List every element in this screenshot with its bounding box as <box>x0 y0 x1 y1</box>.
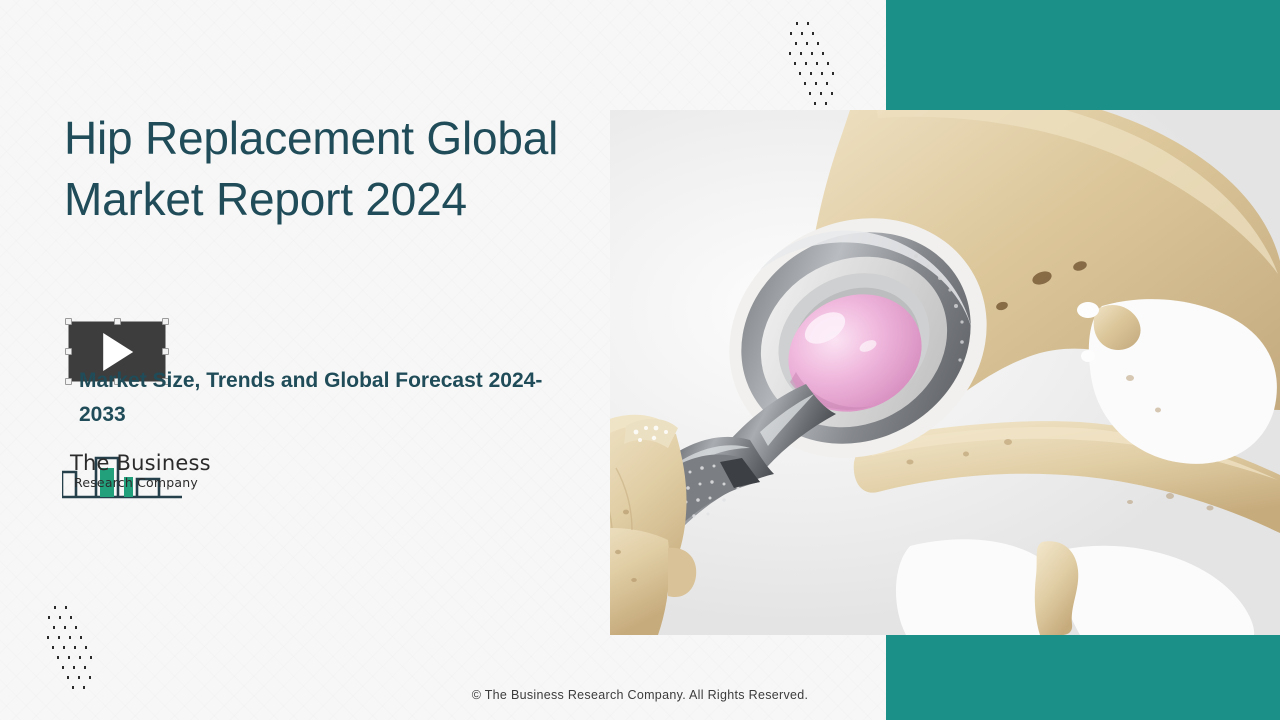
hip-replacement-illustration <box>610 110 1280 635</box>
selection-handle-middle-right[interactable] <box>162 348 169 355</box>
company-logo: The Business Research Company <box>62 446 282 512</box>
dot-pattern-top-right <box>786 18 856 112</box>
selection-handle-bottom-left[interactable] <box>65 378 72 385</box>
selection-handle-top-right[interactable] <box>162 318 169 325</box>
presentation-slide: Hip Replacement Global Market Report 202… <box>0 0 1280 720</box>
logo-text-primary: The Business <box>70 451 211 475</box>
selection-handle-top-left[interactable] <box>65 318 72 325</box>
accent-block-top-right <box>886 0 1280 112</box>
selection-handle-top-middle[interactable] <box>114 318 121 325</box>
copyright-footer: © The Business Research Company. All Rig… <box>0 688 1280 702</box>
hero-image-hip-implant <box>610 110 1280 635</box>
slide-title: Hip Replacement Global Market Report 202… <box>64 108 604 230</box>
accent-block-bottom-right <box>886 634 1280 720</box>
selection-handle-middle-left[interactable] <box>65 348 72 355</box>
slide-subtitle: Market Size, Trends and Global Forecast … <box>79 364 549 432</box>
logo-text-secondary: Research Company <box>74 475 198 490</box>
dot-pattern-bottom-left <box>44 602 114 696</box>
